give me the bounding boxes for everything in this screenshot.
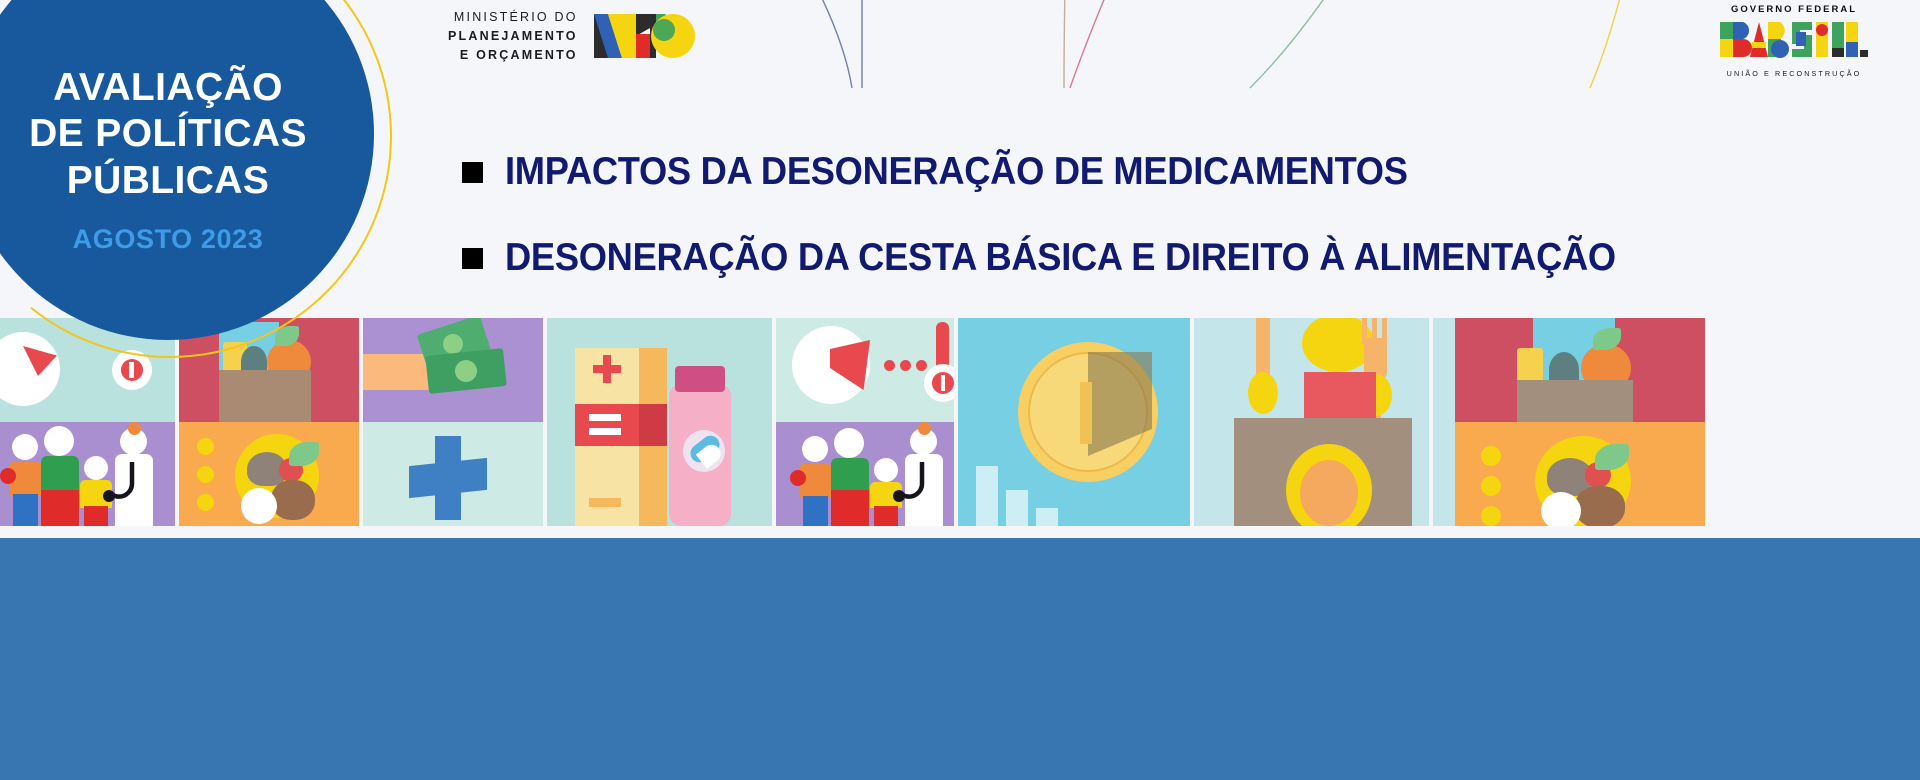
headline-item-2: DESONERAÇÃO DA CESTA BÁSICA E DIREITO À … (462, 236, 1699, 280)
ministry-line-3: E ORÇAMENTO (448, 46, 578, 65)
ministry-logo-text: MINISTÉRIO DO PLANEJAMENTO E ORÇAMENTO (448, 8, 578, 64)
badge-title-line-2: DE POLÍTICAS (29, 111, 307, 157)
illustration-panel-table-setting (1194, 318, 1429, 526)
illustration-panel-health-cost (776, 318, 954, 526)
family-group-icon (12, 434, 38, 460)
government-logo-bottom-text: UNIÃO E RECONSTRUÇÃO (1716, 69, 1872, 78)
headline-text-1: IMPACTOS DA DESONERAÇÃO DE MEDICAMENTOS (505, 150, 1408, 194)
illustration-strip (0, 318, 1920, 526)
bar-chart-icon (976, 466, 998, 526)
ministry-line-2: PLANEJAMENTO (448, 27, 578, 46)
strip-bottom-gap (0, 526, 1920, 538)
square-bullet-icon (462, 248, 483, 269)
government-logo-top-text: GOVERNO FEDERAL (1716, 4, 1872, 15)
illustration-panel-medicine (547, 318, 772, 526)
headline-text-2: DESONERAÇÃO DA CESTA BÁSICA E DIREITO À … (505, 236, 1616, 280)
badge-title-line-1: AVALIAÇÃO (29, 65, 307, 111)
family-group-icon (802, 436, 828, 462)
mpo-logo-icon (592, 8, 700, 64)
square-bullet-icon (462, 162, 483, 183)
ministry-line-1: MINISTÉRIO DO (448, 8, 578, 27)
spoon-icon (1256, 318, 1270, 380)
illustration-panel-grocery-meal (179, 318, 359, 526)
badge-date: AGOSTO 2023 (29, 224, 307, 255)
headline-item-1: IMPACTOS DA DESONERAÇÃO DE MEDICAMENTOS (462, 150, 1699, 194)
illustration-panel-health-family (0, 318, 175, 526)
illustration-panel-money-hand (363, 318, 543, 526)
brasil-wordmark-icon (1716, 18, 1872, 62)
ministry-logo: MINISTÉRIO DO PLANEJAMENTO E ORÇAMENTO (448, 8, 700, 64)
presentation-slide: MINISTÉRIO DO PLANEJAMENTO E ORÇAMENTO G… (0, 0, 1920, 780)
badge-title-line-3: PÚBLICAS (29, 158, 307, 204)
government-logo: GOVERNO FEDERAL UN (1716, 4, 1872, 78)
illustration-panel-grocery-meal-2 (1433, 318, 1705, 526)
headline-list: IMPACTOS DA DESONERAÇÃO DE MEDICAMENTOS … (462, 150, 1699, 322)
illustration-panel-coin-chart (958, 318, 1190, 526)
content-area (0, 538, 1920, 780)
